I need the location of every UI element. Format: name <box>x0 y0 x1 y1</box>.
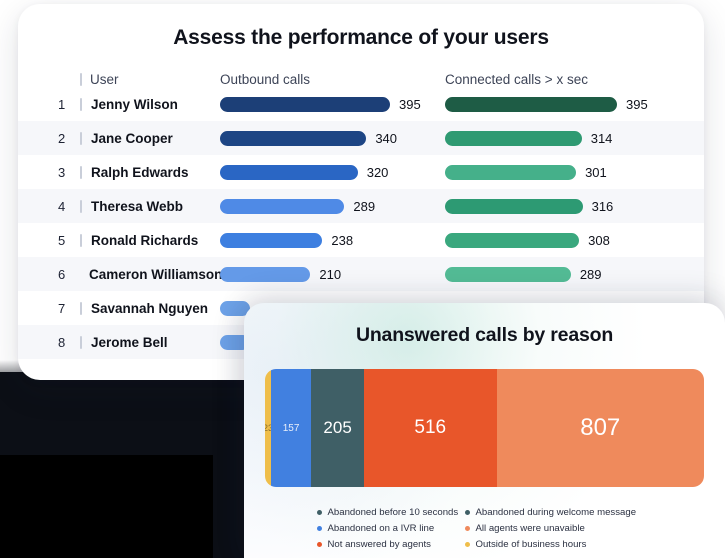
connected-calls-bar <box>445 131 582 146</box>
outbound-calls-value: 340 <box>375 131 397 146</box>
page-title: Assess the performance of your users <box>18 26 704 50</box>
shadow-artifact-core <box>0 455 213 558</box>
row-user-name-label: Ronald Richards <box>91 233 198 248</box>
legend-item[interactable]: All agents were unavaible <box>465 523 653 534</box>
row-divider-icon <box>80 234 82 247</box>
row-divider-icon <box>80 98 82 111</box>
connected-calls-bar <box>445 97 617 112</box>
table-row[interactable]: 2Jane Cooper340314 <box>18 121 704 155</box>
row-divider-icon <box>80 132 82 145</box>
row-user-name: Savannah Nguyen <box>80 301 220 316</box>
row-rank: 4 <box>58 199 80 214</box>
row-user-name: Jane Cooper <box>80 131 220 146</box>
unanswered-calls-card: Unanswered calls by reason 2315720551680… <box>244 303 725 558</box>
stack-segment-value: 157 <box>283 423 300 434</box>
connected-calls-value: 289 <box>580 267 602 282</box>
stacked-bar-chart: 23157205516807 <box>265 369 704 487</box>
stack-segment[interactable]: 516 <box>364 369 497 487</box>
row-user-name: Ralph Edwards <box>80 165 220 180</box>
connected-calls-value: 316 <box>592 199 614 214</box>
row-rank: 1 <box>58 97 80 112</box>
outbound-calls-bar <box>220 165 358 180</box>
connected-calls-value: 314 <box>591 131 613 146</box>
row-divider-icon <box>80 302 82 315</box>
row-user-name: Cameron Williamson <box>80 267 220 282</box>
row-divider-icon <box>80 200 82 213</box>
legend-color-dot-icon <box>317 510 322 515</box>
column-header-user: User <box>80 72 220 87</box>
outbound-calls-cell: 238 <box>220 233 445 248</box>
connected-calls-bar <box>445 233 579 248</box>
row-user-name-label: Jerome Bell <box>91 335 168 350</box>
stack-segment-value: 807 <box>580 414 620 442</box>
row-user-name: Ronald Richards <box>80 233 220 248</box>
row-rank: 8 <box>58 335 80 350</box>
connected-calls-value: 308 <box>588 233 610 248</box>
connected-calls-cell: 316 <box>445 199 704 214</box>
outbound-calls-cell: 210 <box>220 267 445 282</box>
stack-segment[interactable]: 205 <box>311 369 364 487</box>
table-row[interactable]: 6Cameron Williamson210289 <box>18 257 704 291</box>
outbound-calls-value: 210 <box>319 267 341 282</box>
outbound-calls-bar <box>220 97 390 112</box>
legend-item[interactable]: Outside of business hours <box>465 539 653 550</box>
table-header-row: User Outbound calls Connected calls > x … <box>18 72 704 87</box>
outbound-calls-bar <box>220 233 322 248</box>
row-user-name-label: Cameron Williamson <box>89 267 222 282</box>
connected-calls-cell: 301 <box>445 165 704 180</box>
connected-calls-bar <box>445 199 583 214</box>
row-user-name-label: Jenny Wilson <box>91 97 178 112</box>
outbound-calls-cell: 340 <box>220 131 445 146</box>
connected-calls-bar <box>445 165 576 180</box>
connected-calls-cell: 289 <box>445 267 704 282</box>
legend-item[interactable]: Abandoned before 10 seconds <box>317 507 465 518</box>
connected-calls-cell: 308 <box>445 233 704 248</box>
outbound-calls-value: 395 <box>399 97 421 112</box>
outbound-calls-cell: 289 <box>220 199 445 214</box>
legend-color-dot-icon <box>465 526 470 531</box>
legend-item-label: Not answered by agents <box>328 539 431 550</box>
connected-calls-bar <box>445 267 571 282</box>
row-user-name-label: Theresa Webb <box>91 199 183 214</box>
row-rank: 3 <box>58 165 80 180</box>
row-divider-icon <box>80 166 82 179</box>
table-row[interactable]: 4Theresa Webb289316 <box>18 189 704 223</box>
row-user-name: Jenny Wilson <box>80 97 220 112</box>
legend-item-label: Abandoned before 10 seconds <box>328 507 459 518</box>
stack-segment[interactable]: 157 <box>271 369 311 487</box>
stack-segment-value: 516 <box>414 417 446 439</box>
legend-item-label: All agents were unavaible <box>476 523 585 534</box>
unanswered-calls-title: Unanswered calls by reason <box>244 324 725 347</box>
connected-calls-cell: 395 <box>445 97 704 112</box>
row-rank: 2 <box>58 131 80 146</box>
row-user-name: Theresa Webb <box>80 199 220 214</box>
outbound-calls-bar <box>220 199 344 214</box>
outbound-calls-bar <box>220 131 366 146</box>
outbound-calls-cell: 395 <box>220 97 445 112</box>
connected-calls-cell: 314 <box>445 131 704 146</box>
legend-item[interactable]: Abandoned during welcome message <box>465 507 653 518</box>
connected-calls-value: 301 <box>585 165 607 180</box>
connected-calls-value: 395 <box>626 97 648 112</box>
row-user-name-label: Savannah Nguyen <box>91 301 208 316</box>
chart-legend: Abandoned before 10 secondsAbandoned dur… <box>317 507 653 550</box>
row-rank: 5 <box>58 233 80 248</box>
legend-color-dot-icon <box>465 510 470 515</box>
stack-segment-value: 205 <box>323 418 351 438</box>
column-header-connected: Connected calls > x sec <box>445 72 704 87</box>
outbound-calls-value: 320 <box>367 165 389 180</box>
legend-color-dot-icon <box>465 542 470 547</box>
table-row[interactable]: 1Jenny Wilson395395 <box>18 87 704 121</box>
outbound-calls-value: 289 <box>353 199 375 214</box>
row-divider-icon <box>80 336 82 349</box>
table-row[interactable]: 5Ronald Richards238308 <box>18 223 704 257</box>
outbound-calls-value: 238 <box>331 233 353 248</box>
screenshot-root: Assess the performance of your users Use… <box>0 0 725 558</box>
column-header-user-label: User <box>90 72 119 87</box>
row-user-name: Jerome Bell <box>80 335 220 350</box>
outbound-calls-bar <box>220 267 310 282</box>
stack-segment[interactable]: 807 <box>497 369 704 487</box>
row-rank: 6 <box>58 267 80 282</box>
outbound-calls-cell: 320 <box>220 165 445 180</box>
row-rank: 7 <box>58 301 80 316</box>
column-divider-icon <box>80 73 82 86</box>
column-header-outbound: Outbound calls <box>220 72 445 87</box>
row-user-name-label: Jane Cooper <box>91 131 173 146</box>
legend-item[interactable]: Abandoned on a IVR line <box>317 523 465 534</box>
legend-item-label: Outside of business hours <box>476 539 587 550</box>
table-row[interactable]: 3Ralph Edwards320301 <box>18 155 704 189</box>
legend-item-label: Abandoned during welcome message <box>476 507 637 518</box>
legend-color-dot-icon <box>317 542 322 547</box>
legend-color-dot-icon <box>317 526 322 531</box>
legend-item[interactable]: Not answered by agents <box>317 539 465 550</box>
legend-item-label: Abandoned on a IVR line <box>328 523 435 534</box>
row-user-name-label: Ralph Edwards <box>91 165 189 180</box>
